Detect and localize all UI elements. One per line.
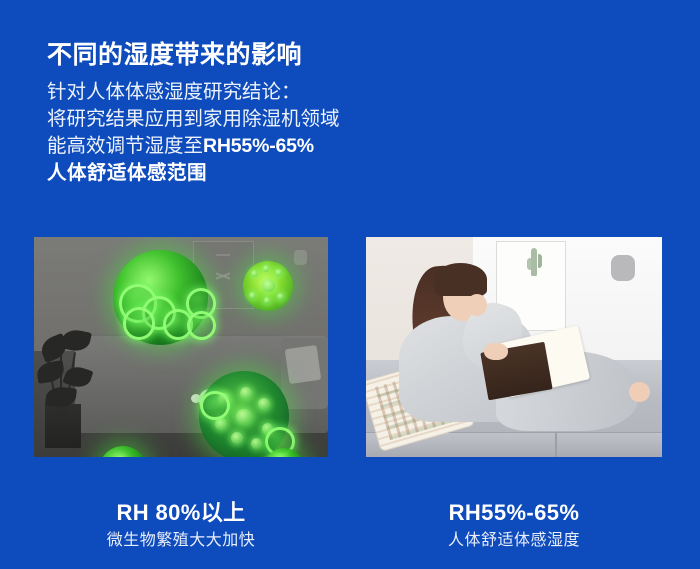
microbe-blob — [123, 307, 156, 340]
bright-room-scene — [366, 237, 662, 457]
humidity-range-highlight: RH55%-65% — [203, 135, 314, 157]
body-copy: 针对人体体感湿度研究结论： 将研究结果应用到家用除湿机领域 能高效调节湿度至RH… — [47, 79, 340, 187]
photo-high-humidity — [34, 237, 328, 457]
microbe-cluster-large — [113, 250, 208, 345]
caption-title: RH 80%以上 — [34, 500, 328, 526]
page-title: 不同的湿度带来的影响 — [47, 35, 302, 71]
sofa-cushion — [285, 345, 322, 384]
microbe-dot — [251, 270, 258, 277]
microbe-small-bright — [243, 261, 293, 311]
microbe-virus-large — [199, 371, 289, 457]
body-line-3-prefix: 能高效调节湿度至 — [47, 135, 203, 157]
wall-speaker — [294, 250, 307, 265]
body-line-3: 能高效调节湿度至RH55%-65% — [47, 133, 340, 160]
dark-room-scene — [34, 237, 328, 457]
microbe-core — [262, 279, 275, 292]
plant-pot — [45, 404, 81, 448]
microbe-dot — [251, 438, 262, 449]
microbe-dot — [263, 265, 270, 272]
woman-foot — [629, 382, 650, 402]
body-line-2: 将研究结果应用到家用除湿机领域 — [47, 106, 340, 133]
caption-comfort-humidity: RH55%-65% 人体舒适体感湿度 — [366, 500, 662, 553]
microbe-dot — [277, 293, 284, 300]
microbe-dot — [264, 297, 271, 304]
hair-top — [434, 263, 487, 296]
microbe-dot — [115, 456, 126, 457]
body-line-4: 人体舒适体感范围 — [47, 160, 340, 187]
microbe-dot — [231, 432, 243, 444]
microbe-core — [236, 409, 251, 424]
caption-high-humidity: RH 80%以上 微生物繁殖大大加快 — [34, 500, 328, 553]
caption-subtitle: 微生物繁殖大大加快 — [34, 529, 328, 553]
caption-subtitle: 人体舒适体感湿度 — [366, 529, 662, 553]
cactus-icon — [531, 248, 537, 276]
microbe-dot — [240, 387, 252, 399]
caption-title: RH55%-65% — [366, 500, 662, 526]
microbe-dot — [258, 398, 270, 410]
microbe-dot — [249, 292, 256, 299]
microbe-dot — [276, 456, 285, 457]
wall-speaker — [611, 255, 635, 281]
microbe-dot — [275, 269, 282, 276]
body-line-1: 针对人体体感湿度研究结论： — [47, 79, 340, 106]
microbe-blob — [200, 391, 229, 420]
potted-plant — [37, 325, 102, 448]
woman-hand-holding-book — [484, 343, 508, 361]
microbe-blob — [187, 311, 216, 340]
sofa-seam — [555, 432, 557, 457]
photo-comfort-humidity — [366, 237, 662, 457]
poster-root: 不同的湿度带来的影响 针对人体体感湿度研究结论： 将研究结果应用到家用除湿机领域… — [0, 0, 700, 569]
